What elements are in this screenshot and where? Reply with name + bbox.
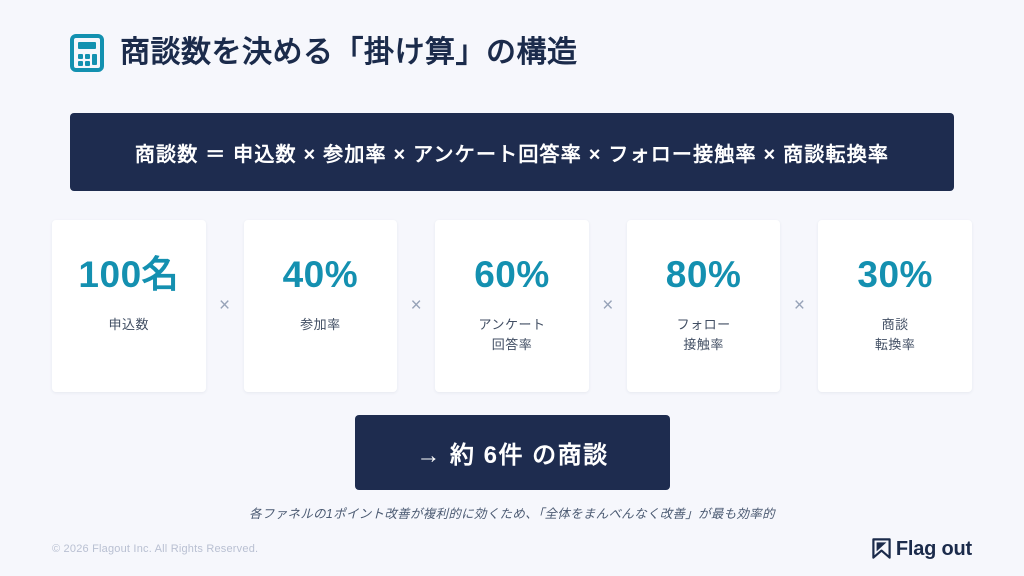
caption-text: 各ファネルの1ポイント改善が複利的に効くため、「全体をまんべんなく改善」が最も効… — [0, 503, 1024, 522]
multiply-icon: × — [397, 220, 435, 392]
brand-logo-text: Flag out — [896, 539, 972, 559]
funnel-card-label: 参加率 — [300, 315, 341, 335]
funnel-card-label: アンケート回答率 — [478, 315, 545, 355]
formula-bar: 商談数 ＝ 申込数 × 参加率 × アンケート回答率 × フォロー接触率 × 商… — [70, 113, 954, 191]
funnel-card: 60% アンケート回答率 — [435, 220, 589, 392]
formula-text: 商談数 ＝ 申込数 × 参加率 × アンケート回答率 × フォロー接触率 × 商… — [135, 138, 889, 167]
funnel-card-value: 60% — [474, 256, 550, 293]
funnel-card: 80% フォロー接触率 — [627, 220, 781, 392]
funnel-card-label: フォロー接触率 — [677, 315, 731, 355]
multiply-icon: × — [206, 220, 244, 392]
funnel-cards-row: 100名 申込数 × 40% 参加率 × 60% アンケート回答率 × 80% … — [52, 220, 972, 392]
funnel-card-value: 30% — [857, 256, 933, 293]
funnel-card-value: 100名 — [78, 256, 179, 293]
funnel-card: 40% 参加率 — [244, 220, 398, 392]
funnel-card-label: 商談転換率 — [875, 315, 916, 355]
brand-logo: Flag out — [872, 538, 972, 559]
funnel-card: 100名 申込数 — [52, 220, 206, 392]
result-banner: → 約 6件 の商談 — [355, 415, 670, 490]
flag-bookmark-icon — [872, 538, 891, 559]
funnel-card: 30% 商談転換率 — [818, 220, 972, 392]
multiply-icon: × — [589, 220, 627, 392]
multiply-icon: × — [780, 220, 818, 392]
funnel-card-value: 80% — [666, 256, 742, 293]
funnel-card-label: 申込数 — [109, 315, 150, 335]
footer-copyright: © 2026 Flagout Inc. All Rights Reserved. — [52, 543, 258, 555]
funnel-card-value: 40% — [283, 256, 359, 293]
result-text: → 約 6件 の商談 — [416, 435, 608, 470]
page-title: 商談数を決める「掛け算」の構造 — [120, 38, 578, 68]
calculator-icon — [70, 34, 104, 72]
page-header: 商談数を決める「掛け算」の構造 — [70, 34, 578, 72]
